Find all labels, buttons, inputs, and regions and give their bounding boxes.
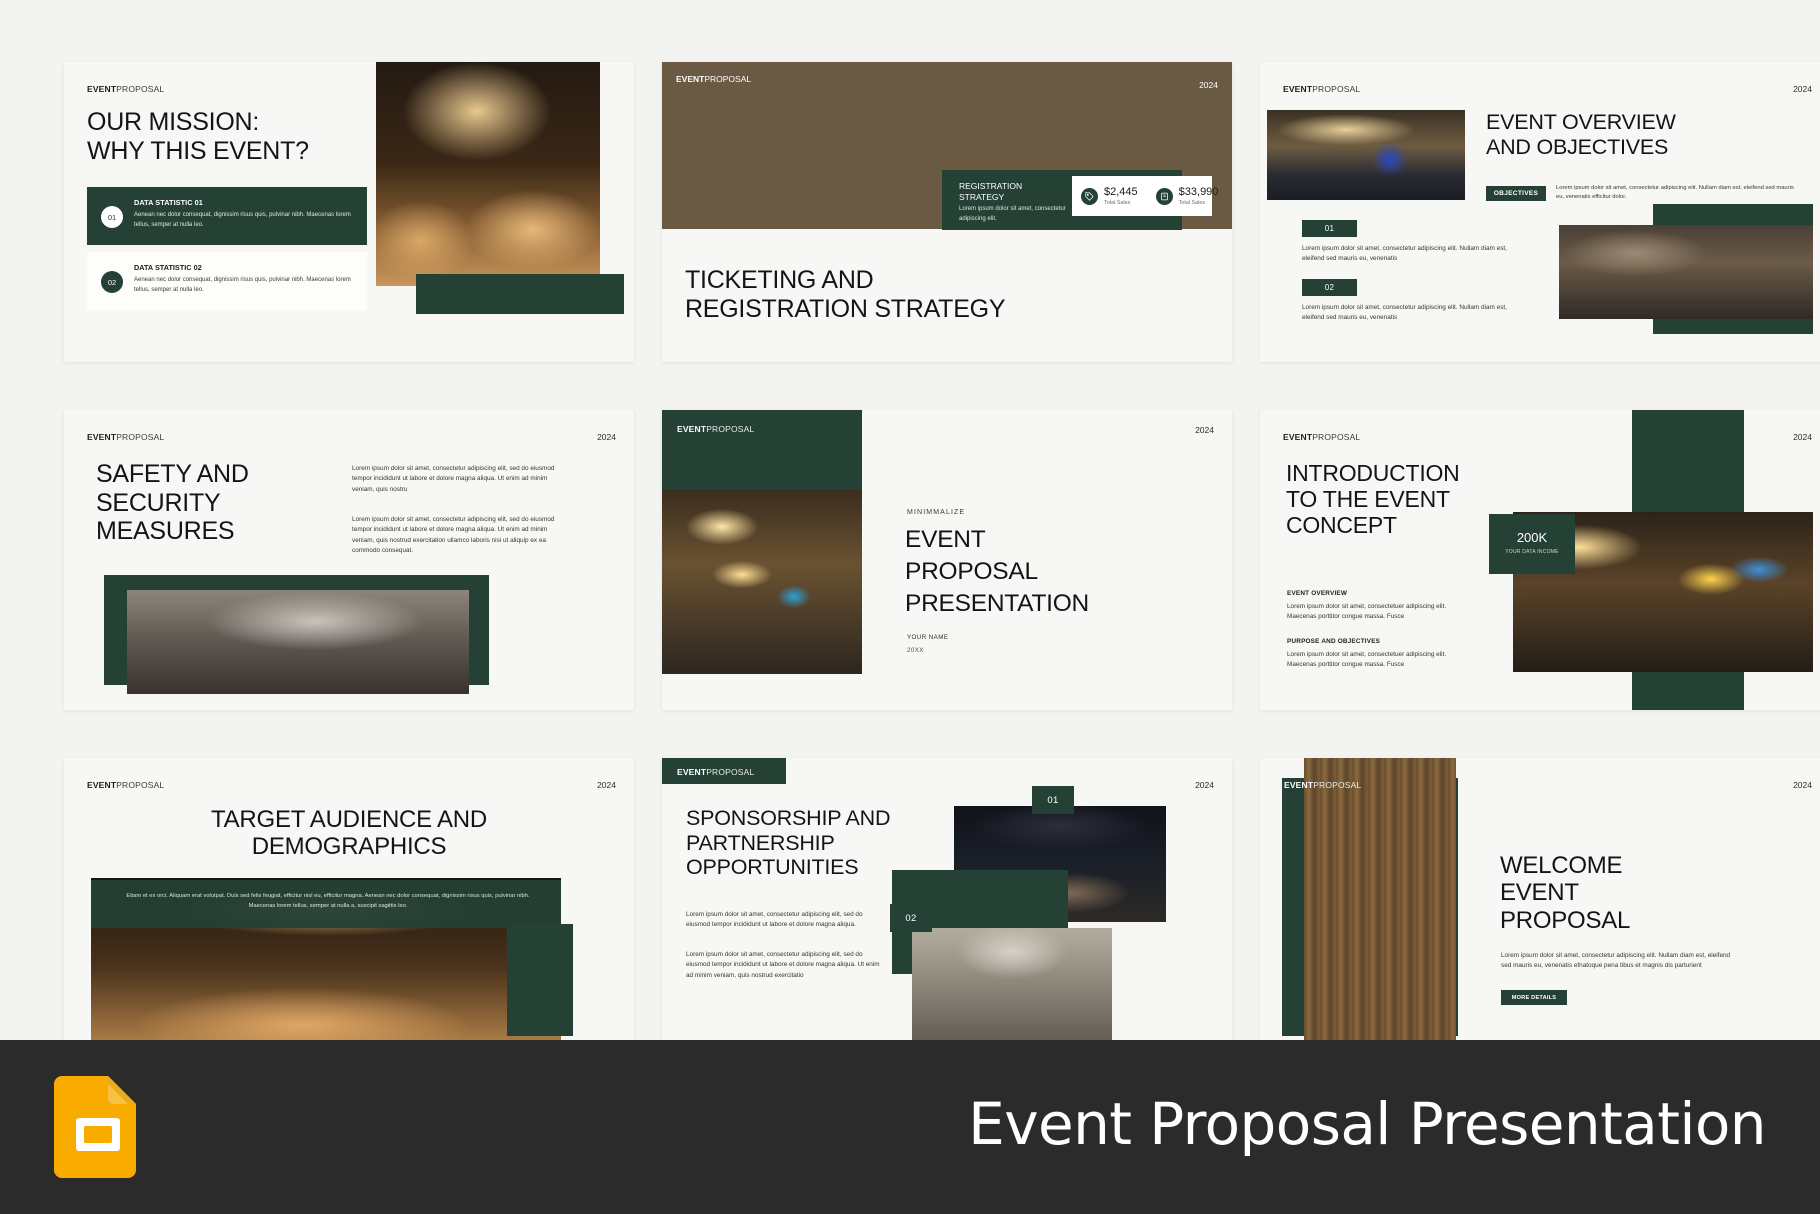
data-badge-label: YOUR DATA INCOME: [1489, 549, 1575, 555]
page-title: EVENT PROPOSAL PRESENTATION: [905, 524, 1205, 620]
metric-label: Total Sales: [1104, 200, 1138, 206]
brand-mark: EVENTPROPOSAL: [1284, 780, 1361, 790]
brand-mark: EVENTPROPOSAL: [677, 424, 754, 434]
crowd-cheering-photo: [376, 62, 600, 286]
year-label: 2024: [1195, 425, 1214, 435]
metric-total-sales-1: $2,445 Total Sales: [1072, 186, 1147, 205]
objectives-tag-label: OBJECTIVES: [1494, 190, 1538, 197]
page-title: TICKETING AND REGISTRATION STRATEGY: [685, 266, 1165, 323]
brand-mark: EVENTPROPOSAL: [1283, 84, 1360, 94]
objective-number-02: 02: [1302, 279, 1357, 296]
slide-welcome[interactable]: EVENTPROPOSAL 2024 WELCOME EVENT PROPOSA…: [1260, 758, 1820, 1058]
brand-bold: EVENT: [87, 780, 116, 790]
page-title: EVENT OVERVIEW AND OBJECTIVES: [1486, 110, 1816, 159]
page-title: SAFETY AND SECURITY MEASURES: [96, 460, 326, 546]
speaker-stage-photo: [1267, 110, 1465, 200]
slide-introduction-concept[interactable]: EVENTPROPOSAL 2024 INTRODUCTION TO THE E…: [1260, 410, 1820, 710]
seated-note-takers-photo: [127, 590, 469, 694]
paragraph-1: Lorem ipsum dolor sit amet, consectetur …: [686, 910, 886, 931]
card-title: REGISTRATION STRATEGY: [959, 181, 1022, 202]
metric-label: Total Sales: [1179, 200, 1219, 206]
section-heading-1: EVENT OVERVIEW: [1287, 590, 1347, 597]
objective-number-01: 01: [1302, 220, 1357, 237]
kicker-label: MINIMMALIZE: [907, 509, 965, 516]
year-label: 2024: [1793, 780, 1812, 790]
tag-icon: [1081, 188, 1098, 205]
google-slides-icon: [52, 1076, 144, 1178]
brand-light: PROPOSAL: [704, 74, 751, 84]
year-label: 2024: [597, 432, 616, 442]
data-badge-value: 200K: [1489, 530, 1575, 545]
more-details-label: MORE DETAILS: [1512, 995, 1557, 1001]
brand-mark: EVENTPROPOSAL: [676, 74, 751, 84]
brand-bold: EVENT: [676, 74, 704, 84]
slide-event-overview[interactable]: EVENTPROPOSAL 2024 EVENT OVERVIEW AND OB…: [1260, 62, 1820, 362]
metric-total-sales-2: $33,990 Total Sales: [1147, 186, 1228, 205]
metric-value: $33,990: [1179, 186, 1219, 198]
brand-bold: EVENT: [87, 84, 116, 94]
caption-band: Etiam et ex orci. Aliquam erat volutpat.…: [91, 880, 561, 928]
slide-target-audience[interactable]: EVENTPROPOSAL 2024 TARGET AUDIENCE AND D…: [64, 758, 634, 1058]
brand-bold: EVENT: [1283, 432, 1312, 442]
badge-01: 01: [1032, 786, 1074, 814]
stat-body-01: Aenean nec dolor consequat, dignissim ri…: [134, 211, 356, 231]
paragraph-2: Lorem ipsum dolor sit amet, consectetur …: [686, 950, 886, 981]
brand-light: PROPOSAL: [116, 432, 164, 442]
banner-title: Event Proposal Presentation: [968, 1090, 1766, 1158]
year-label: 2024: [597, 780, 616, 790]
objective-body-02: Lorem ipsum dolor sit amet, consectetur …: [1302, 303, 1512, 324]
stat-label-01: DATA STATISTIC 01: [134, 198, 203, 207]
stat-label-02: DATA STATISTIC 02: [134, 263, 202, 272]
cafe-lamps-photo: [662, 490, 862, 674]
brand-mark: EVENTPROPOSAL: [87, 432, 164, 442]
brand-bold: EVENT: [677, 424, 706, 434]
year-label: 2024: [1793, 84, 1812, 94]
metrics-card: $2,445 Total Sales $33,990 Total Sales: [1072, 176, 1212, 216]
stat-number-01: 01: [101, 206, 123, 228]
brand-light: PROPOSAL: [116, 84, 164, 94]
brand-mark: EVENTPROPOSAL: [1283, 432, 1360, 442]
footer-banner: Event Proposal Presentation: [0, 1040, 1820, 1214]
stat-number-02: 02: [101, 271, 123, 293]
objectives-tag: OBJECTIVES: [1486, 186, 1546, 201]
author-year: 20XX: [907, 647, 924, 654]
page-title: TARGET AUDIENCE AND DEMOGRAPHICS: [64, 806, 634, 861]
brand-bold: EVENT: [1283, 84, 1312, 94]
stat-card-02[interactable]: 02 DATA STATISTIC 02 Aenean nec dolor co…: [87, 252, 367, 310]
receipt-icon: [1156, 188, 1173, 205]
more-details-button[interactable]: MORE DETAILS: [1501, 990, 1567, 1005]
data-badge: 200K YOUR DATA INCOME: [1489, 514, 1575, 574]
green-accent-block-top: [1632, 410, 1744, 522]
boardroom-photo: [912, 928, 1112, 1058]
brand-light: PROPOSAL: [706, 424, 754, 434]
green-accent-block: [507, 924, 573, 1036]
brand-mark: EVENTPROPOSAL: [87, 84, 164, 94]
caption-band-text: Etiam et ex orci. Aliquam erat volutpat.…: [121, 892, 535, 912]
year-label: 2024: [1199, 80, 1218, 90]
objectives-tag-body: Lorem ipsum dolor sit amet, consectetur …: [1556, 184, 1802, 203]
year-label: 2024: [1793, 432, 1812, 442]
slide-safety-security[interactable]: EVENTPROPOSAL 2024 SAFETY AND SECURITY M…: [64, 410, 634, 710]
paragraph-1: Lorem ipsum dolor sit amet, consectetur …: [352, 464, 566, 495]
slide-ticketing-registration[interactable]: EVENTPROPOSAL 2024 REGISTRATION STRATEGY…: [662, 62, 1232, 362]
page-title: SPONSORSHIP AND PARTNERSHIP OPPORTUNITIE…: [686, 806, 986, 880]
slide-our-mission[interactable]: EVENTPROPOSAL OUR MISSION: WHY THIS EVEN…: [64, 62, 634, 362]
brand-light: PROPOSAL: [1313, 780, 1361, 790]
brand-light: PROPOSAL: [116, 780, 164, 790]
seated-audience-photo: [1559, 225, 1813, 319]
green-accent-block: [416, 274, 624, 314]
year-label: 2024: [1195, 780, 1214, 790]
slide-sponsorship[interactable]: EVENTPROPOSAL 2024 SPONSORSHIP AND PARTN…: [662, 758, 1232, 1058]
brand-mark: EVENTPROPOSAL: [87, 780, 164, 790]
brand-bold: EVENT: [677, 767, 706, 777]
slide-grid: EVENTPROPOSAL OUR MISSION: WHY THIS EVEN…: [0, 0, 1820, 1040]
page-title: OUR MISSION: WHY THIS EVENT?: [87, 108, 377, 165]
metric-value: $2,445: [1104, 186, 1138, 198]
stat-body-02: Aenean nec dolor consequat, dignissim ri…: [134, 276, 356, 296]
section-body-1: Lorem ipsum dolor sit amet, consectetuer…: [1287, 602, 1477, 623]
card-body: Lorem ipsum dolor sit amet, consectetur …: [959, 205, 1081, 224]
stat-card-01[interactable]: 01 DATA STATISTIC 01 Aenean nec dolor co…: [87, 187, 367, 245]
paragraph-2: Lorem ipsum dolor sit amet, consectetur …: [352, 515, 566, 557]
brand-light: PROPOSAL: [706, 767, 754, 777]
welcome-body: Lorem ipsum dolor sit amet, consectetur …: [1501, 951, 1741, 972]
section-heading-2: PURPOSE AND OBJECTIVES: [1287, 638, 1380, 645]
badge-02: 02: [890, 904, 932, 932]
brand-bold: EVENT: [1284, 780, 1313, 790]
author-name: YOUR NAME: [907, 634, 948, 641]
brand-bold: EVENT: [87, 432, 116, 442]
objective-body-01: Lorem ipsum dolor sit amet, consectetur …: [1302, 244, 1512, 265]
brand-light: PROPOSAL: [1312, 432, 1360, 442]
wood-slat-lounge-photo: [1304, 758, 1456, 1058]
page-title: WELCOME EVENT PROPOSAL: [1500, 852, 1760, 934]
slide-cover-event-proposal[interactable]: EVENTPROPOSAL 2024 MINIMMALIZE EVENT PRO…: [662, 410, 1232, 710]
brand-light: PROPOSAL: [1312, 84, 1360, 94]
section-body-2: Lorem ipsum dolor sit amet, consectetuer…: [1287, 650, 1477, 671]
brand-mark: EVENTPROPOSAL: [677, 767, 754, 777]
slide-gallery-page: EVENTPROPOSAL OUR MISSION: WHY THIS EVEN…: [0, 0, 1820, 1214]
